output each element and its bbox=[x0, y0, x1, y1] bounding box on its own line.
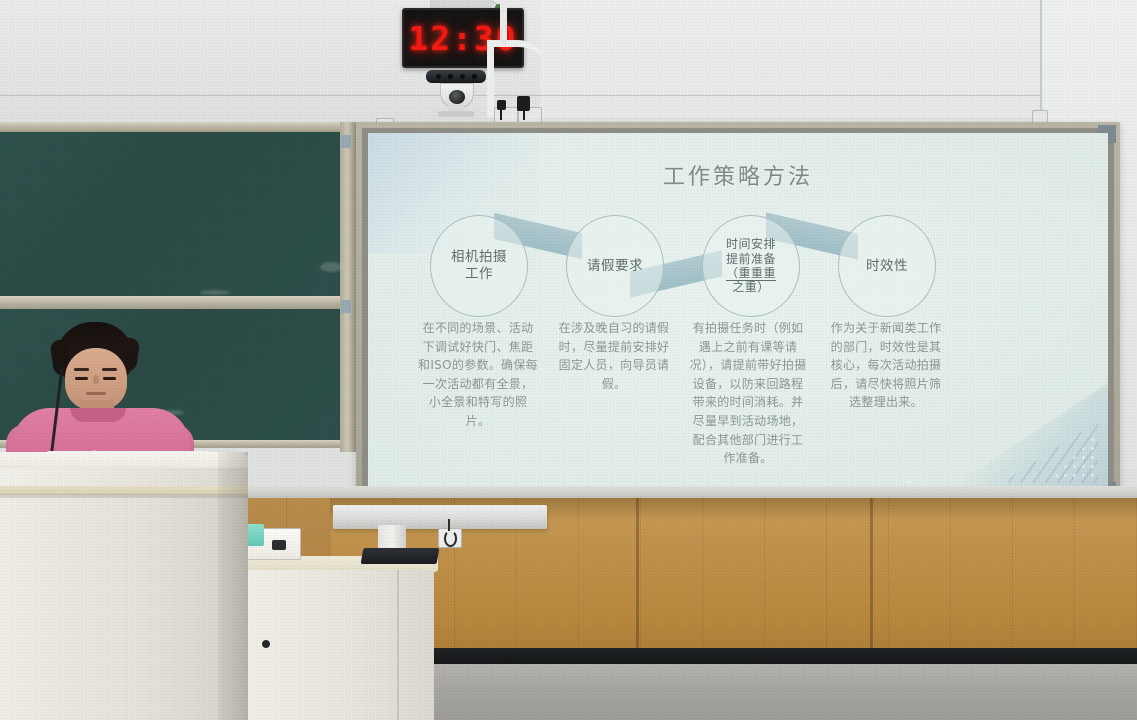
plug-1 bbox=[497, 100, 506, 110]
cable-conduit-vertical bbox=[500, 0, 507, 46]
wood-seam-1 bbox=[636, 498, 639, 666]
microphone-head bbox=[53, 362, 62, 371]
blackboard-clip-top bbox=[341, 135, 351, 148]
blackboard-post bbox=[340, 122, 356, 452]
step-3-line4: 之重） bbox=[732, 280, 770, 294]
step-circle-1: 相机拍摄 工作 bbox=[430, 215, 528, 317]
sensor-bar bbox=[426, 70, 486, 83]
roller-hook-icon[interactable] bbox=[444, 530, 457, 547]
blackboard-panel-top bbox=[0, 130, 344, 297]
plug-wire-1 bbox=[500, 110, 502, 120]
step-circle-4: 时效性 bbox=[838, 215, 936, 317]
step-3-line3: （重重重 bbox=[726, 266, 776, 281]
chalk-smudge-1 bbox=[320, 262, 342, 272]
desk-mat bbox=[361, 548, 440, 564]
cabinet-knob[interactable] bbox=[262, 640, 270, 648]
podium-shadow bbox=[218, 452, 248, 720]
cabinet-door-seam bbox=[397, 570, 399, 720]
step-3-line2: 提前准备 bbox=[726, 252, 776, 266]
wall-seam bbox=[0, 95, 1137, 96]
projection-screen-roller bbox=[333, 505, 547, 529]
classroom-photo: 12:30 工作策略方法 bbox=[0, 0, 1137, 720]
plug-wire-2 bbox=[523, 110, 525, 120]
projected-slide: 工作策略方法 相机拍摄 工作 请假要求 时间安排 提前准备 （重重重 bbox=[368, 133, 1108, 493]
blackboard-rail-middle bbox=[0, 296, 344, 309]
step-3-line1: 时间安排 bbox=[726, 237, 776, 251]
box-contents bbox=[272, 540, 286, 550]
presenter-mouth bbox=[86, 392, 106, 395]
step-2-line1: 请假要求 bbox=[587, 258, 643, 275]
step-4-line1: 时效性 bbox=[866, 258, 908, 275]
presenter-eye-right bbox=[103, 377, 116, 380]
step-1-line1: 相机拍摄 bbox=[451, 249, 507, 265]
step-circle-3: 时间安排 提前准备 （重重重 之重） bbox=[702, 215, 800, 317]
wood-seam-2 bbox=[870, 498, 873, 666]
presenter-eye-left bbox=[75, 377, 88, 380]
step-1-line2: 工作 bbox=[465, 266, 493, 282]
podium-front-face bbox=[0, 498, 248, 720]
camera-base bbox=[438, 111, 474, 117]
presenter-brow-left bbox=[74, 368, 89, 371]
plug-2 bbox=[517, 96, 530, 111]
camera-lens-icon bbox=[449, 90, 465, 104]
presenter-brow-right bbox=[102, 368, 117, 371]
blackboard-rail-top bbox=[0, 122, 344, 132]
chalk-smudge-2 bbox=[200, 290, 230, 295]
green-notebook bbox=[246, 524, 264, 546]
presenter-nose bbox=[93, 375, 99, 384]
step-circle-2: 请假要求 bbox=[566, 215, 664, 317]
blackboard-clip-mid bbox=[341, 300, 351, 313]
presenter-collar bbox=[70, 408, 126, 422]
